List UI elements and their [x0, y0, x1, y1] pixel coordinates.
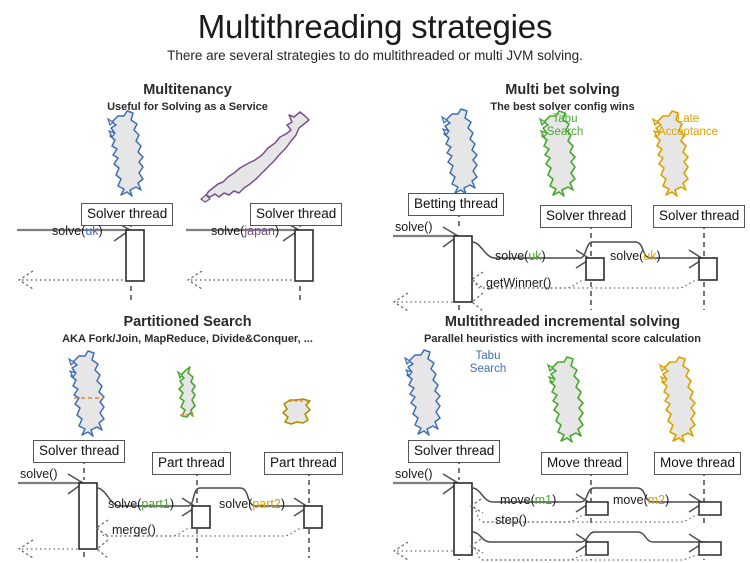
- msg-suffix: ): [99, 224, 103, 238]
- msg-suffix: ): [657, 249, 661, 263]
- activation-bar: [699, 258, 717, 280]
- msg-prefix: solve(: [495, 249, 528, 263]
- msg-prefix: move(: [500, 493, 535, 507]
- activation-bar: [586, 502, 608, 515]
- thread-box-solver-thread-1[interactable]: Solver thread: [540, 205, 632, 228]
- message-label-solve-uk-gold: solve(uk): [610, 249, 661, 263]
- thread-box-move-thread-1[interactable]: Move thread: [541, 452, 628, 475]
- uk-map-blue-partitioned: [69, 351, 104, 436]
- msg-suffix: ): [281, 497, 285, 511]
- message-label-solve-uk: solve(uk): [52, 224, 103, 238]
- quadrant-multi-bet-solving: Multi bet solving The best solver config…: [375, 78, 750, 310]
- return-arrow: [472, 506, 586, 522]
- page-subtitle: There are several strategies to do multi…: [0, 47, 750, 65]
- msg-arg: japan: [244, 224, 275, 238]
- quadrant-multithreaded-incremental-solving: Multithreaded incremental solving Parall…: [375, 310, 750, 563]
- msg-prefix: solve(: [610, 249, 643, 263]
- uk-map: [108, 111, 143, 196]
- activation-bar: [454, 236, 472, 302]
- msg-prefix: solve(: [211, 224, 244, 238]
- thread-box-move-thread-2[interactable]: Move thread: [654, 452, 741, 475]
- japan-map: [201, 112, 309, 202]
- caption-line-2: Search: [525, 126, 605, 139]
- caption-tabu-search: Tabu Search: [525, 113, 605, 139]
- activation-bar: [304, 506, 322, 528]
- message-label-solve: solve(): [20, 467, 58, 481]
- activation-bar: [126, 230, 144, 281]
- msg-prefix: solve(: [108, 497, 141, 511]
- thread-box-solver-thread[interactable]: Solver thread: [33, 440, 125, 463]
- msg-suffix: ): [542, 249, 546, 263]
- message-label-move-m2: move(m2): [613, 493, 669, 507]
- activation-bar: [699, 502, 721, 515]
- thread-box-solver-thread-1[interactable]: Solver thread: [81, 203, 173, 226]
- message-label-merge: merge(): [112, 523, 156, 537]
- msg-arg: uk: [643, 249, 656, 263]
- slide-canvas: Multithreading strategies There are seve…: [0, 0, 750, 563]
- multithreaded-incremental-diagram: [375, 310, 750, 563]
- activation-bar: [586, 542, 608, 555]
- caption-tabu-search: Tabu Search: [453, 350, 523, 376]
- msg-arg: uk: [85, 224, 98, 238]
- thread-box-solver-thread-2[interactable]: Solver thread: [250, 203, 342, 226]
- activation-bar: [192, 506, 210, 528]
- msg-arg: part2: [252, 497, 281, 511]
- message-label-solve-japan: solve(japan): [211, 224, 279, 238]
- caption-line-1: Late: [633, 113, 743, 126]
- title-block: Multithreading strategies There are seve…: [0, 8, 750, 65]
- message-label-move-m1: move(m1): [500, 493, 556, 507]
- activation-bar: [699, 542, 721, 555]
- thread-box-solver-thread-2[interactable]: Solver thread: [653, 205, 745, 228]
- caption-late-acceptance: Late Acceptance: [633, 113, 743, 139]
- msg-prefix: solve(: [52, 224, 85, 238]
- msg-arg: m1: [535, 493, 552, 507]
- uk-map-gold: [660, 357, 695, 442]
- message-label-solve-part2: solve(part2): [219, 497, 285, 511]
- msg-prefix: move(: [613, 493, 648, 507]
- caption-line-2: Search: [453, 363, 523, 376]
- uk-map-green: [548, 357, 583, 442]
- quadrant-multitenancy: Multitenancy Useful for Solving as a Ser…: [0, 78, 375, 310]
- message-label-solve: solve(): [395, 467, 433, 481]
- page-title: Multithreading strategies: [0, 8, 750, 46]
- message-label-get-winner: getWinner(): [486, 276, 551, 290]
- msg-prefix: solve(: [219, 497, 252, 511]
- message-label-step: step(): [495, 513, 527, 527]
- call-arrow: [637, 532, 706, 542]
- msg-suffix: ): [170, 497, 174, 511]
- message-label-solve-part1: solve(part1): [108, 497, 174, 511]
- activation-bar: [454, 483, 472, 555]
- activation-bar: [79, 483, 97, 549]
- quadrant-partitioned-search: Partitioned Search AKA Fork/Join, MapRed…: [0, 310, 375, 563]
- thread-box-part-thread-2[interactable]: Part thread: [264, 452, 343, 475]
- uk-map-blue: [405, 350, 440, 435]
- msg-arg: m2: [648, 493, 665, 507]
- uk-map-gold-part2: [283, 399, 310, 424]
- activation-bar: [586, 258, 604, 280]
- caption-line-2: Acceptance: [633, 126, 743, 139]
- call-arrow: [472, 532, 637, 542]
- thread-box-betting-thread[interactable]: Betting thread: [408, 193, 504, 216]
- msg-suffix: ): [552, 493, 556, 507]
- msg-suffix: ): [665, 493, 669, 507]
- thread-box-part-thread-1[interactable]: Part thread: [152, 452, 231, 475]
- uk-map-green-part1: [178, 367, 195, 417]
- partitioned-search-diagram: [0, 310, 375, 563]
- message-label-solve: solve(): [395, 220, 433, 234]
- message-label-solve-uk-green: solve(uk): [495, 249, 546, 263]
- activation-bar: [295, 230, 313, 281]
- caption-line-1: Tabu: [453, 350, 523, 363]
- return-arrow: [472, 546, 586, 560]
- msg-arg: part1: [141, 497, 170, 511]
- caption-line-1: Tabu: [525, 113, 605, 126]
- uk-map-blue: [442, 109, 477, 194]
- msg-suffix: ): [275, 224, 279, 238]
- msg-arg: uk: [528, 249, 541, 263]
- thread-box-solver-thread[interactable]: Solver thread: [408, 440, 500, 463]
